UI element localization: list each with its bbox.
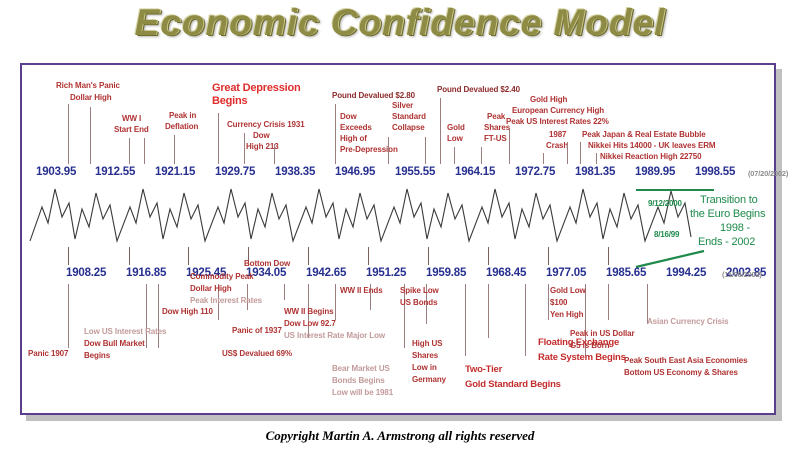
euro-note-line3: 1998 - [720,223,750,235]
annotation-peak-in-us-dollar: Peak in US Dollar [570,330,635,339]
pointer-tick-b2-14 [525,284,526,356]
pointer-tick-bottom-7 [428,247,429,265]
annotation-wwi-start-end: Start End [114,126,149,135]
pointer-tick-b2-17 [608,284,609,320]
pointer-tick-top-1 [68,104,69,164]
annotation-dow-exceeds-2: Exceeds [340,124,372,133]
annotation-dollar-high-bottom: Dollar High [190,285,232,294]
pointer-tick-top-13 [454,147,455,164]
annotation-spike-low: Spike Low [400,287,439,296]
annotation-nikkei-14000: Nikkei Hits 14000 - UK leaves ERM [588,142,715,151]
annotation-gold-low-bottom: Gold Low [550,287,586,296]
date-bottom-9: 1977.05 [546,267,586,279]
pointer-tick-top-2 [90,107,91,164]
pointer-tick-top-11 [425,137,426,164]
annotation-gold-low-top: Gold [447,124,465,133]
annotation-great-depression: Great Depression [212,83,301,95]
date-bottom-8: 1968.45 [486,267,526,279]
annotation-wwi: WW I [122,115,141,124]
pointer-tick-top-14 [481,147,482,164]
annotation-european-currency-high: European Currency High [512,107,604,116]
pointer-tick-top-3 [129,138,130,164]
annotation-panic-1907: Panic 1907 [28,350,68,359]
pointer-tick-b2-6 [284,284,285,300]
annotation-peak-south-east-asia: Peak South East Asia Economies [624,357,747,366]
date-top-2: 1912.55 [95,166,135,178]
annotation-rich-mans-panic: Rich Man's Panic [56,82,120,91]
pointer-tick-top-16 [543,153,544,164]
annotation-low-will-be-1981: Low will be 1981 [332,389,393,398]
pointer-tick-top-4 [144,138,145,164]
pointer-tick-b2-1 [68,284,69,348]
date-bottom-10: 1985.65 [606,267,646,279]
pointer-tick-top-17 [567,142,568,164]
annotation-rate-system-begins: Rate System Begins [538,353,626,363]
annotation-bottom-us-economy: Bottom US Economy & Shares [624,369,738,378]
date-bottom-6: 1951.25 [366,267,406,279]
pointer-tick-bottom-5 [308,247,309,265]
annotation-two-tier: Two-Tier [465,365,502,375]
annotation-bear-market-us: Bear Market US [332,365,390,374]
annotation-asian-currency-crisis: Asian Currency Crisis [647,318,729,327]
annotation-deflation: Deflation [165,123,198,132]
annotation-low-in: Low in [412,364,437,373]
annotation-peak-us-interest-rates: Peak US Interest Rates 22% [506,118,609,127]
pointer-tick-b2-13 [488,284,489,338]
annotation-peak-japan-bubble: Peak Japan & Real Estate Bubble [582,131,706,140]
euro-note-line1: Transition to [700,195,758,207]
pointer-tick-top-18 [580,142,581,164]
annotation-peak-shares-ft-us: FT-US [484,135,507,144]
euro-bracket-top-line [636,189,714,191]
pointer-tick-top-10 [388,137,389,164]
chart-plot-area: Rich Man's Panic Dollar High WW I Start … [22,65,774,413]
pointer-tick-bottom-3 [188,247,189,265]
pointer-tick-bottom-6 [368,247,369,265]
pointer-tick-b2-15 [548,284,549,320]
annotation-gold-100: $100 [550,299,567,308]
pointer-tick-top-12 [440,98,441,164]
euro-date-top: 9/12/2000 [648,200,682,209]
annotation-dollar-high-top: Dollar High [70,94,112,103]
annotation-peak-shares-1: Peak [487,113,505,122]
pointer-tick-top-19 [596,153,597,164]
annotation-us-bonds: US Bonds [400,299,437,308]
date-top-4: 1929.75 [215,166,255,178]
pointer-tick-bottom-8 [488,247,489,265]
annotation-dow-bull-market-begins: Begins [84,352,110,361]
date-top-10: 1981.35 [575,166,615,178]
annotation-dow-exceeds-3: High of [340,135,367,144]
annotation-yen-high: Yen High [550,311,583,320]
date-top-suffix: (07/20/2002) [748,170,788,178]
annotation-dow-exceeds-4: Pre-Depression [340,146,398,155]
annotation-dow-bull-market: Dow Bull Market [84,340,145,349]
annotation-gold-high: Gold High [530,96,567,105]
page-title: Economic Confidence Model [0,2,800,44]
pointer-tick-b2-2 [146,284,147,348]
annotation-us-interest-rate-major-low: US Interest Rate Major Low [284,332,385,341]
annotation-1987: 1987 [549,131,566,140]
pointer-tick-bottom-2 [129,247,130,265]
annotation-low-us-interest-rates: Low US Interest Rates [84,328,166,337]
euro-note-line2: the Euro Begins [690,209,765,221]
pointer-tick-top-15 [509,129,510,164]
date-top-9: 1972.75 [515,166,555,178]
date-top-1: 1903.95 [36,166,76,178]
annotation-dow: Dow [253,132,270,141]
date-bottom-5: 1942.65 [306,267,346,279]
date-bottom-suffix: (11/06/2002) [722,271,762,279]
date-top-12: 1998.55 [695,166,735,178]
title-bar: Economic Confidence Model [0,0,800,56]
annotation-panic-of-1937: Panic of 1937 [232,327,282,336]
annotation-gold-standard-begins: Gold Standard Begins [465,380,561,390]
annotation-wwii-begins: WW II Begins [284,308,333,317]
pointer-tick-top-5 [174,135,175,164]
date-bottom-7: 1959.85 [426,267,466,279]
pointer-tick-bottom-10 [608,247,609,265]
pointer-tick-top-8 [274,144,275,164]
pointer-tick-b2-8 [335,284,336,320]
date-bottom-2: 1916.85 [126,267,166,279]
date-top-5: 1938.35 [275,166,315,178]
annotation-dow-high-110: Dow High 110 [162,308,213,317]
date-top-6: 1946.95 [335,166,375,178]
annotation-peak-interest-rates: Peak Interest Rates [190,297,262,306]
pointer-tick-b2-3 [158,284,159,348]
annotation-silver: Silver [392,102,413,111]
annotation-g5-is-born: G5 is Born [570,342,609,351]
annotation-great-depression-begins: Begins [212,96,247,108]
annotation-bonds-begins: Bonds Begins [332,377,385,386]
annotation-high-us: High US [412,340,442,349]
annotation-standard: Standard [392,113,426,122]
annotation-peak-in: Peak in [169,112,196,121]
annotation-shares-bottom: Shares [412,352,438,361]
date-top-7: 1955.55 [395,166,435,178]
date-top-8: 1964.15 [455,166,495,178]
annotation-crash: Crash [546,142,568,151]
chart-frame: Rich Man's Panic Dollar High WW I Start … [20,63,776,415]
euro-date-bottom: 8/16/99 [654,231,679,240]
date-bottom-1: 1908.25 [66,267,106,279]
annotation-pound-devalued-240: Pound Devalued $2.40 [437,86,520,95]
date-bottom-11: 1994.25 [666,267,706,279]
copyright-notice: Copyright Martin A. Armstrong all rights… [0,428,800,444]
date-top-3: 1921.15 [155,166,195,178]
pointer-tick-b2-12 [465,284,466,356]
annotation-commodity-peak: Commodity Peak [190,273,254,282]
annotation-dow-exceeds-1: Dow [340,113,357,122]
annotation-dow-low-927: Dow Low 92.7 [284,320,336,329]
annotation-currency-crisis-1931: Currency Crisis 1931 [227,121,305,130]
pointer-tick-top-9 [335,104,336,164]
pointer-tick-top-7 [244,133,245,164]
date-top-11: 1989.95 [635,166,675,178]
annotation-wwii-ends: WW II Ends [340,287,383,296]
pointer-tick-bottom-1 [68,247,69,265]
annotation-nikkei-22750: Nikkei Reaction High 22750 [600,153,701,162]
annotation-usd-devalued-69: US$ Devalued 69% [222,350,292,359]
annotation-bottom-dow: Bottom Dow [244,260,290,269]
pointer-tick-bottom-9 [548,247,549,265]
annotation-germany: Germany [412,376,446,385]
annotation-collapse: Collapse [392,124,425,133]
pointer-tick-top-6 [218,113,219,164]
annotation-low-top: Low [447,135,463,144]
annotation-pound-devalued-280: Pound Devalued $2.80 [332,92,415,101]
wave-polyline [30,189,691,241]
